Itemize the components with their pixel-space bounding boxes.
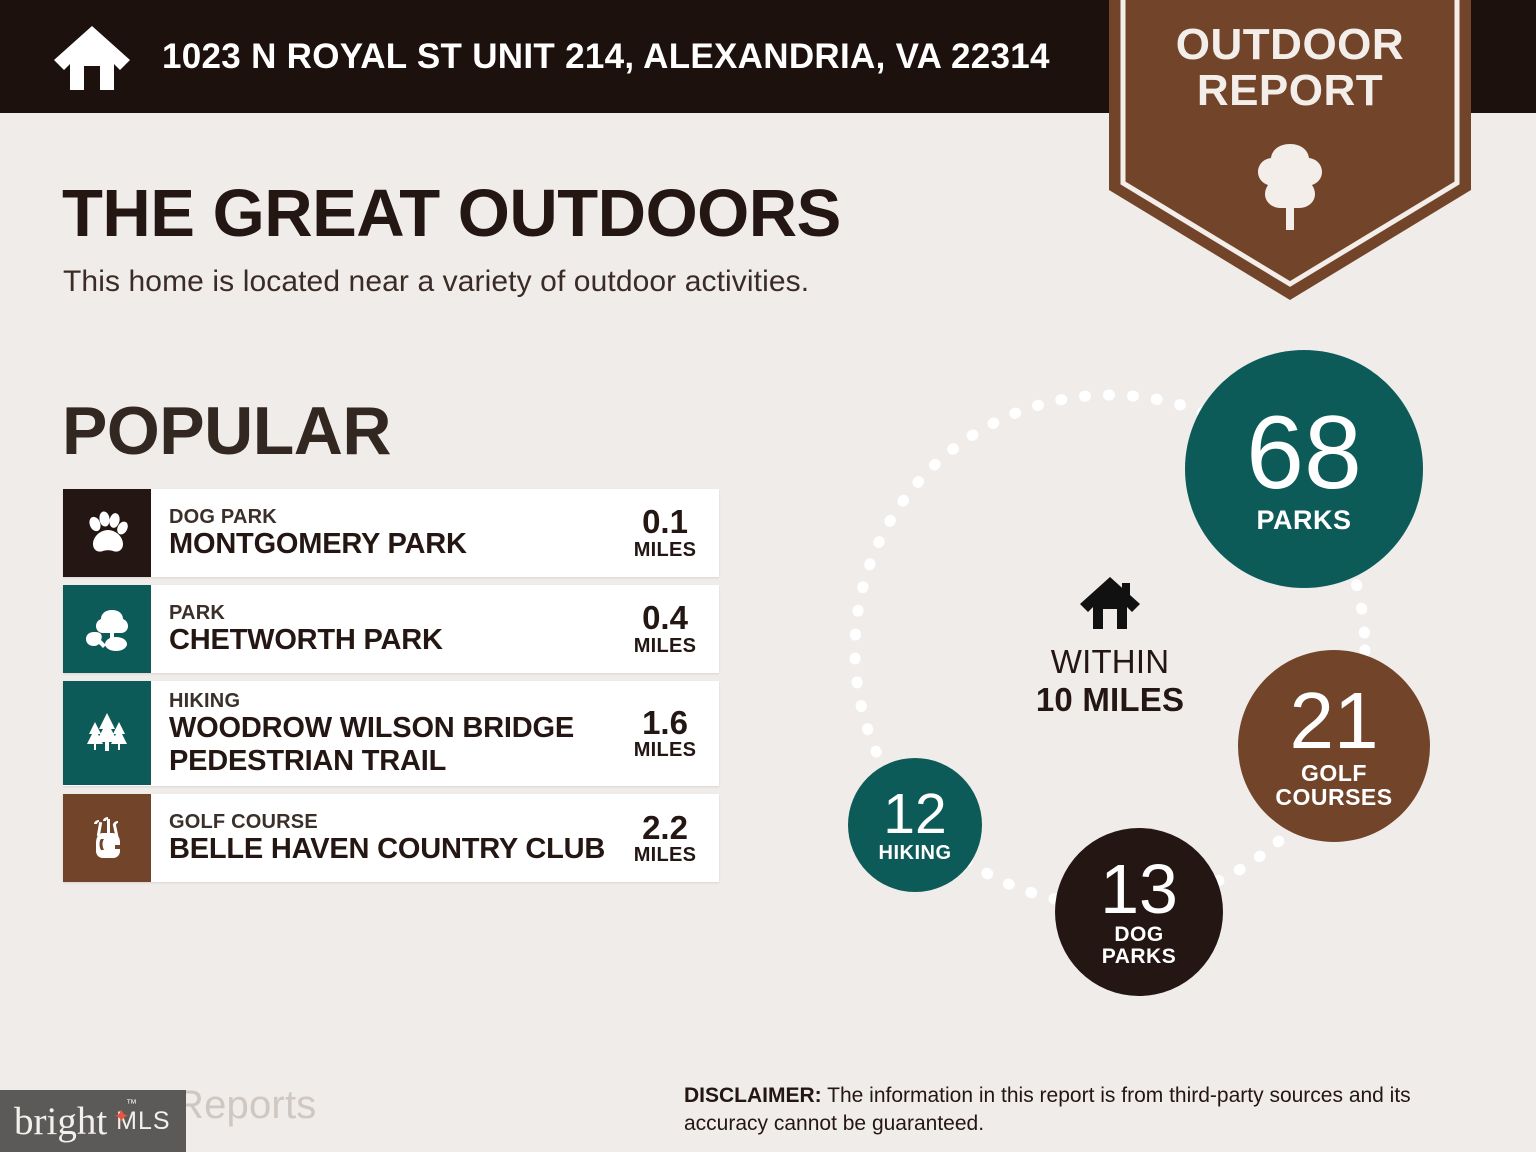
list-item-name: MONTGOMERY PARK [169,528,467,560]
list-item-distance: 0.1 MILES [625,505,705,561]
brightmls-wordmark: bright [14,1102,107,1141]
disclaimer: DISCLAIMER: The information in this repo… [684,1082,1484,1138]
stat-value: 21 [1290,683,1379,759]
list-item-category: DOG PARK [169,506,467,528]
list-item-distance: 2.2 MILES [625,811,705,867]
distance-unit: MILES [625,540,705,561]
stat-value: 12 [883,787,946,841]
list-item-name-line2: PEDESTRIAN TRAIL [169,745,574,777]
disclaimer-label: DISCLAIMER: [684,1084,822,1107]
property-address: 1023 N ROYAL ST UNIT 214, ALEXANDRIA, VA… [162,37,1050,77]
list-item-distance: 1.6 MILES [625,706,705,762]
stat-label: HIKING [879,843,952,864]
trademark-symbol: ™ [126,1098,137,1110]
stat-label-line1: GOLF [1301,762,1367,786]
list-item-name: CHETWORTH PARK [169,624,443,656]
diagram-center-line1: WITHIN [1015,643,1205,681]
distance-value: 2.2 [625,811,705,846]
distance-unit: MILES [625,845,705,866]
page-subtitle: This home is located near a variety of o… [63,265,809,299]
stat-dog-parks[interactable]: 13 DOG PARKS [1055,828,1223,996]
distance-unit: MILES [625,740,705,761]
list-item-category: GOLF COURSE [169,811,605,833]
list-item-category: HIKING [169,690,574,712]
home-icon [52,22,132,92]
stat-hiking[interactable]: 12 HIKING [848,758,982,892]
amenities-diagram: 68 PARKS 21 GOLF COURSES 13 DOG PARKS 12… [820,330,1480,1010]
page-title: THE GREAT OUTDOORS [62,175,841,252]
pine-trees-icon [63,681,151,785]
golf-bag-icon [63,794,151,882]
list-item[interactable]: DOG PARK MONTGOMERY PARK 0.1 MILES [63,489,719,577]
park-tree-icon [63,585,151,673]
list-item-name: WOODROW WILSON BRIDGE [169,712,574,744]
popular-heading: POPULAR [62,392,391,470]
list-item-distance: 0.4 MILES [625,601,705,657]
stat-label-line2: COURSES [1275,786,1392,810]
stat-label-line1: DOG [1114,924,1163,946]
list-item[interactable]: HIKING WOODROW WILSON BRIDGE PEDESTRIAN … [63,681,719,786]
distance-value: 0.1 [625,505,705,540]
stat-label: PARKS [1256,506,1351,534]
stat-golf-courses[interactable]: 21 GOLF COURSES [1238,650,1430,842]
paw-icon [63,489,151,577]
distance-unit: MILES [625,636,705,657]
distance-value: 0.4 [625,601,705,636]
reports-watermark: Reports [175,1083,316,1128]
distance-value: 1.6 [625,706,705,741]
diagram-center: WITHIN 10 MILES [1015,575,1205,719]
list-item-name: BELLE HAVEN COUNTRY CLUB [169,833,605,865]
stat-value: 68 [1246,404,1362,503]
home-icon [1078,575,1142,631]
stat-label-line2: PARKS [1102,946,1176,968]
outdoor-report-badge: OUTDOOR REPORT [1109,0,1471,300]
list-item[interactable]: GOLF COURSE BELLE HAVEN COUNTRY CLUB 2.2… [63,794,719,882]
list-item-category: PARK [169,602,443,624]
diagram-center-line2: 10 MILES [1015,681,1205,719]
stat-parks[interactable]: 68 PARKS [1185,350,1423,588]
list-item[interactable]: PARK CHETWORTH PARK 0.4 MILES [63,585,719,673]
stat-value: 13 [1100,856,1178,923]
tree-icon [1251,140,1329,232]
popular-list: DOG PARK MONTGOMERY PARK 0.1 MILES PARK [63,489,719,890]
brightmls-logo[interactable]: bright ✦ ™ MLS [0,1090,186,1152]
